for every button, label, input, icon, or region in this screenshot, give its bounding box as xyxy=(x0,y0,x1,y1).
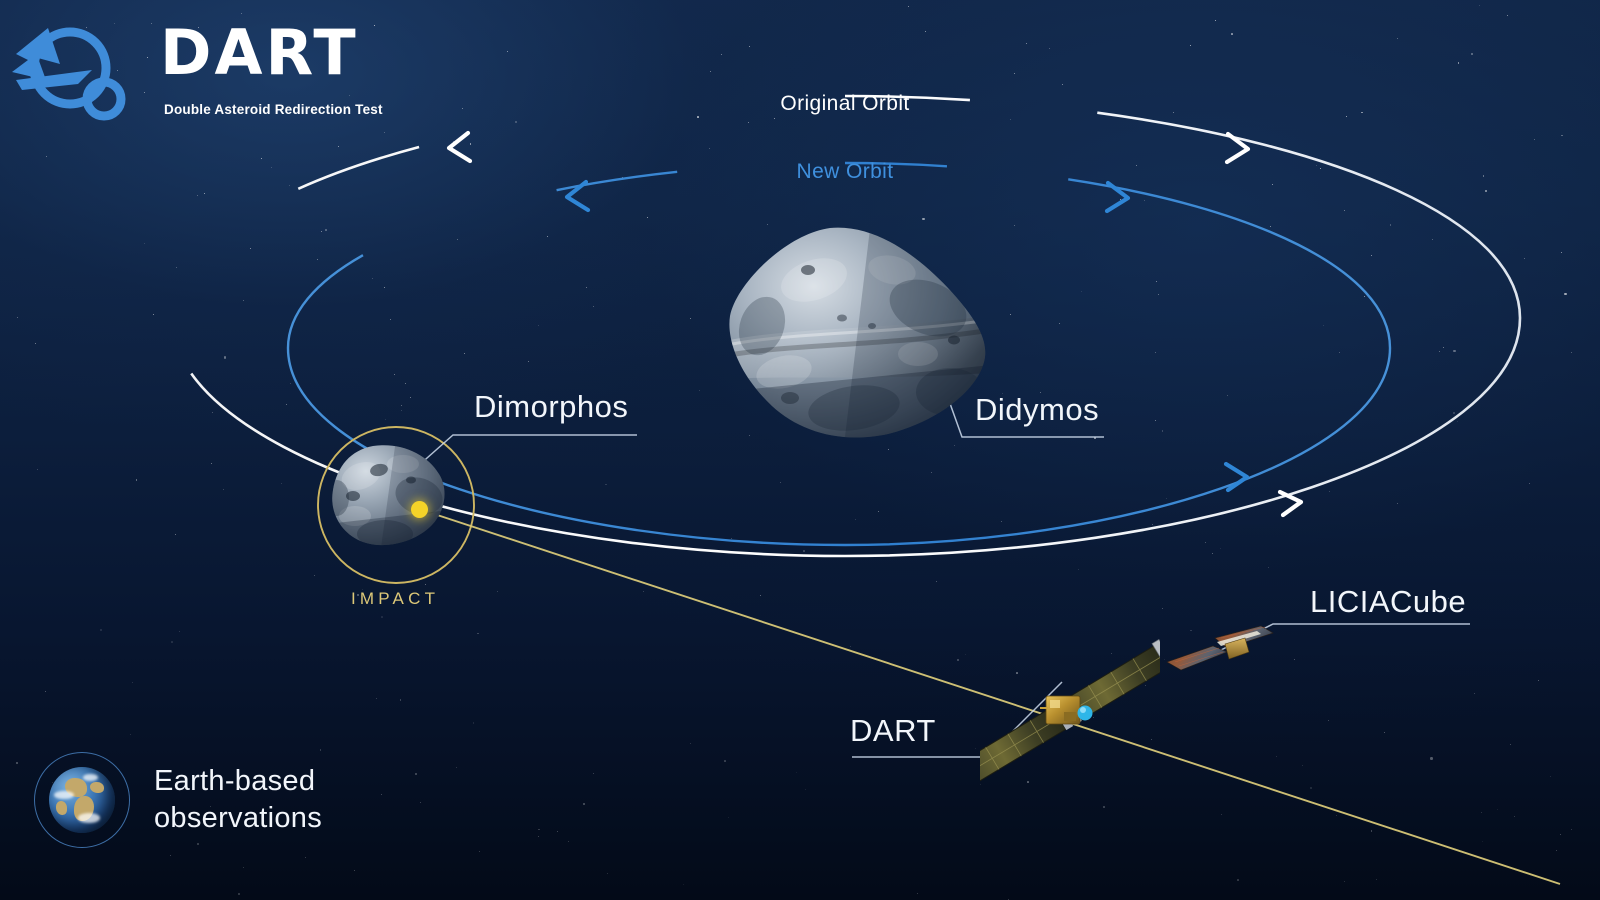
asteroid-dimorphos-icon xyxy=(327,442,455,552)
dart-logo: DART Double Asteroid Redirection Test xyxy=(8,14,368,126)
orbit-label-original: Original Orbit xyxy=(780,92,909,116)
liciacube-spacecraft-icon xyxy=(1165,622,1275,682)
asteroid-didymos-icon xyxy=(722,222,994,442)
earth-observations-label: Earth-based observations xyxy=(154,763,322,836)
earth-globe-sphere xyxy=(49,767,115,833)
dart-spacecraft-icon xyxy=(980,596,1160,832)
label-liciacube: LICIACube xyxy=(1310,584,1466,620)
dart-arrow-orbit-icon xyxy=(8,20,138,124)
logo-wordmark: DART xyxy=(160,22,359,84)
dart-mission-diagram: DART Double Asteroid Redirection Test Or… xyxy=(0,0,1600,900)
logo-tagline: Double Asteroid Redirection Test xyxy=(164,102,383,117)
orbit-label-new: New Orbit xyxy=(797,160,894,184)
label-dart: DART xyxy=(850,713,936,749)
earth-globe-icon xyxy=(34,752,130,848)
label-dimorphos: Dimorphos xyxy=(474,389,628,425)
label-didymos: Didymos xyxy=(975,392,1099,428)
impact-point-icon xyxy=(411,501,428,518)
earth-observations-block: Earth-based observations xyxy=(34,752,322,848)
label-impact: IMPACT xyxy=(351,589,439,609)
